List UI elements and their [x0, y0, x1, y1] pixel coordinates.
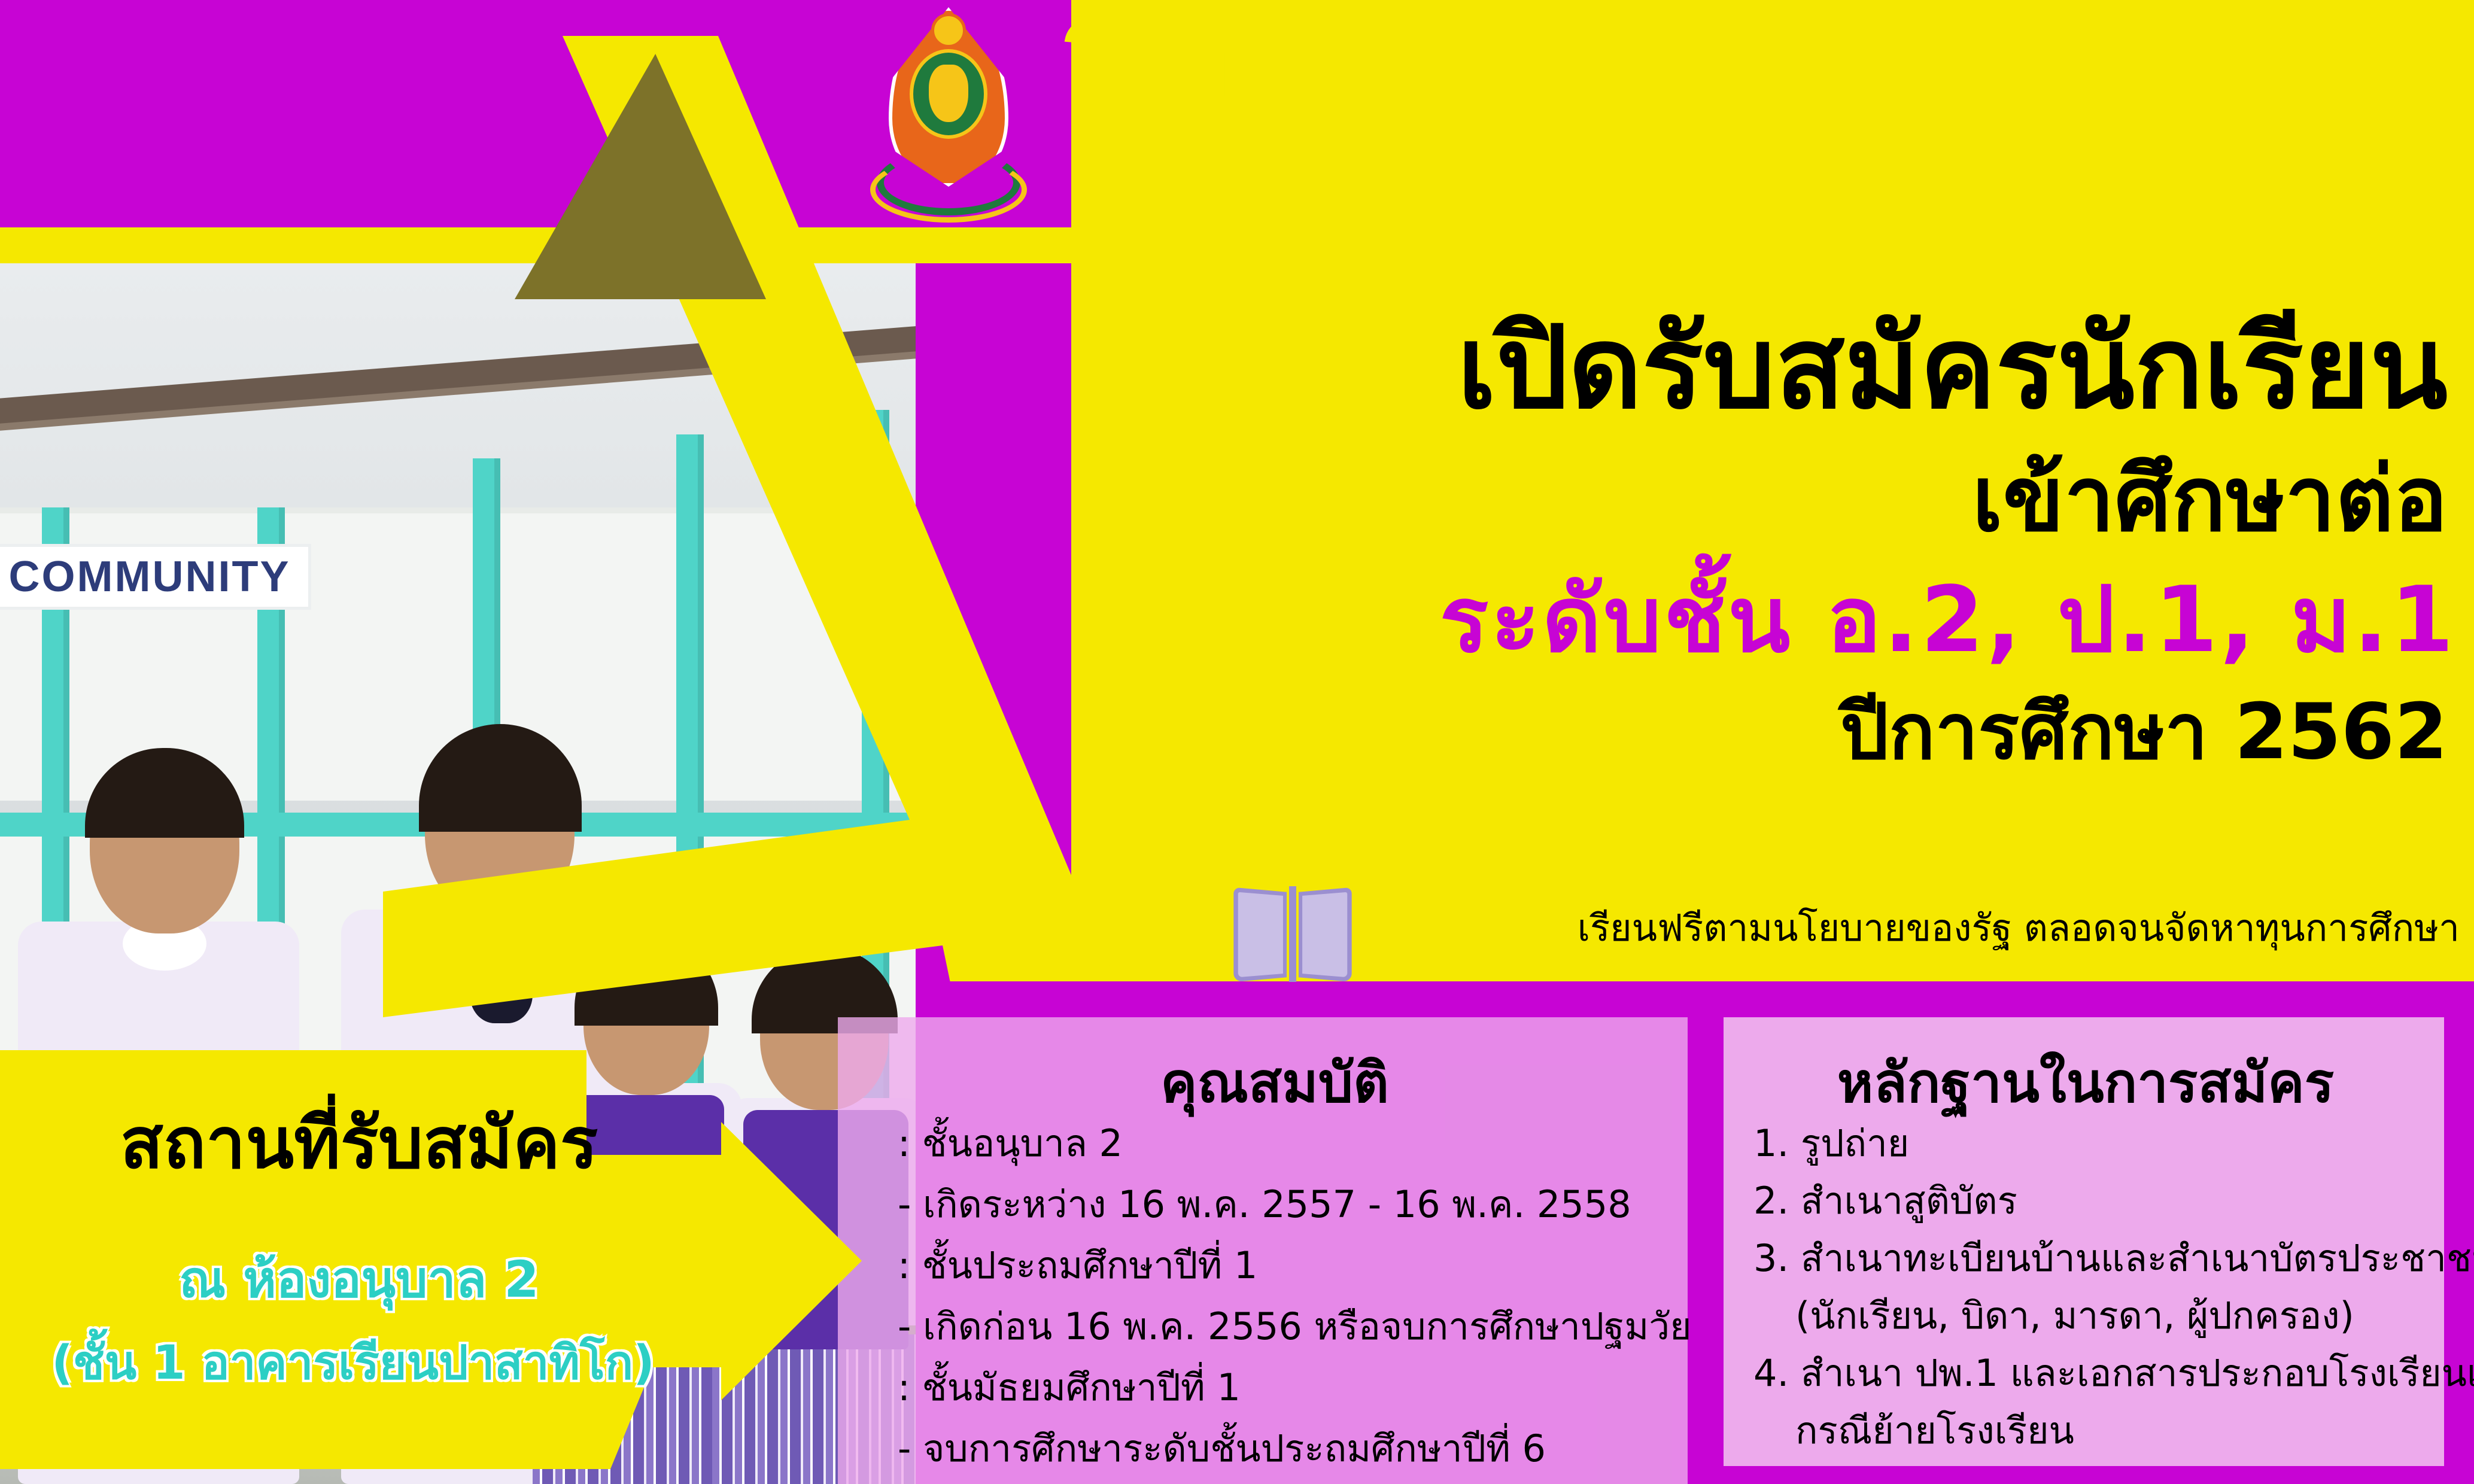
list-item: : ชั้นอนุบาล 2 — [898, 1125, 1688, 1162]
list-item-sub: กรณีย้ายโรงเรียน — [1753, 1412, 2448, 1449]
list-item: - เกิดระหว่าง 16 พ.ค. 2557 - 16 พ.ค. 255… — [898, 1186, 1688, 1223]
list-item: : ชั้นมัธยมศึกษาปีที่ 1 — [898, 1369, 1688, 1406]
documents-list: 1. รูปถ่าย 2. สำเนาสูติบัตร 3. สำเนาทะเบ… — [1753, 1125, 2448, 1470]
hero-academic-year: ปีการศึกษา 2562 — [1083, 694, 2448, 771]
hero-line-continue: เข้าศึกษาต่อ — [1083, 455, 2448, 545]
qualifications-title: คุณสมบัติ — [874, 1038, 1676, 1126]
list-item: - จบการศึกษาระดับชั้นประถมศึกษาปีที่ 6 — [898, 1430, 1688, 1467]
hero-levels: ระดับชั้น อ.2, ป.1, ม.1 — [1083, 574, 2456, 665]
documents-title: หลักฐานในการสมัคร — [1736, 1038, 2436, 1126]
list-item: 2. สำเนาสูติบัตร — [1753, 1182, 2448, 1220]
panel-top-strip — [916, 981, 2474, 1017]
panel-divider — [1688, 1017, 1724, 1484]
emblem-wheel — [931, 13, 966, 48]
building-sign: COMMUNITY — [0, 544, 311, 610]
list-item-sub: (นักเรียน, บิดา, มารดา, ผู้ปกครอง) — [1753, 1297, 2448, 1334]
list-item: 4. สำเนา ปพ.1 และเอกสารประกอบโรงเรียนเดิ… — [1753, 1355, 2448, 1392]
location-room: ณ ห้องอนุบาล 2 — [12, 1239, 706, 1319]
book-page-left — [1233, 887, 1287, 982]
location-building: (ชั้น 1 อาคารเรียนปาสาทิโก) — [0, 1325, 706, 1400]
student-hair — [85, 748, 244, 838]
qualifications-list: : ชั้นอนุบาล 2 - เกิดระหว่าง 16 พ.ค. 255… — [898, 1125, 1688, 1484]
book-spine — [1289, 886, 1296, 982]
list-item: - เกิดก่อน 16 พ.ค. 2556 หรือจบการศึกษาปฐ… — [898, 1308, 1688, 1345]
hero-line-open: เปิดรับสมัครนักเรียน — [1083, 311, 2448, 425]
emblem-glyph — [929, 65, 968, 122]
admission-poster: COMMUNITY — [0, 0, 2474, 1484]
school-name-title: โรงเรียนตะโกดอนหญ้านาง — [1065, 25, 2217, 126]
list-item: 1. รูปถ่าย — [1753, 1125, 2448, 1162]
list-item: 3. สำเนาทะเบียนบ้านและสำเนาบัตรประชาชน — [1753, 1240, 2448, 1277]
emblem-ribbon-inner — [870, 157, 1027, 223]
free-education-note: เรียนฟรีตามนโยบายของรัฐ ตลอดจนจัดหาทุนกา… — [1370, 910, 2460, 947]
obec-school-emblem-icon — [862, 7, 1035, 217]
open-book-icon — [1233, 883, 1353, 987]
student-hair — [419, 724, 582, 832]
list-item: : ชั้นประถมศึกษาปีที่ 1 — [898, 1247, 1688, 1284]
location-title: สถานที่รับสมัคร — [12, 1086, 706, 1199]
book-page-right — [1299, 887, 1352, 982]
